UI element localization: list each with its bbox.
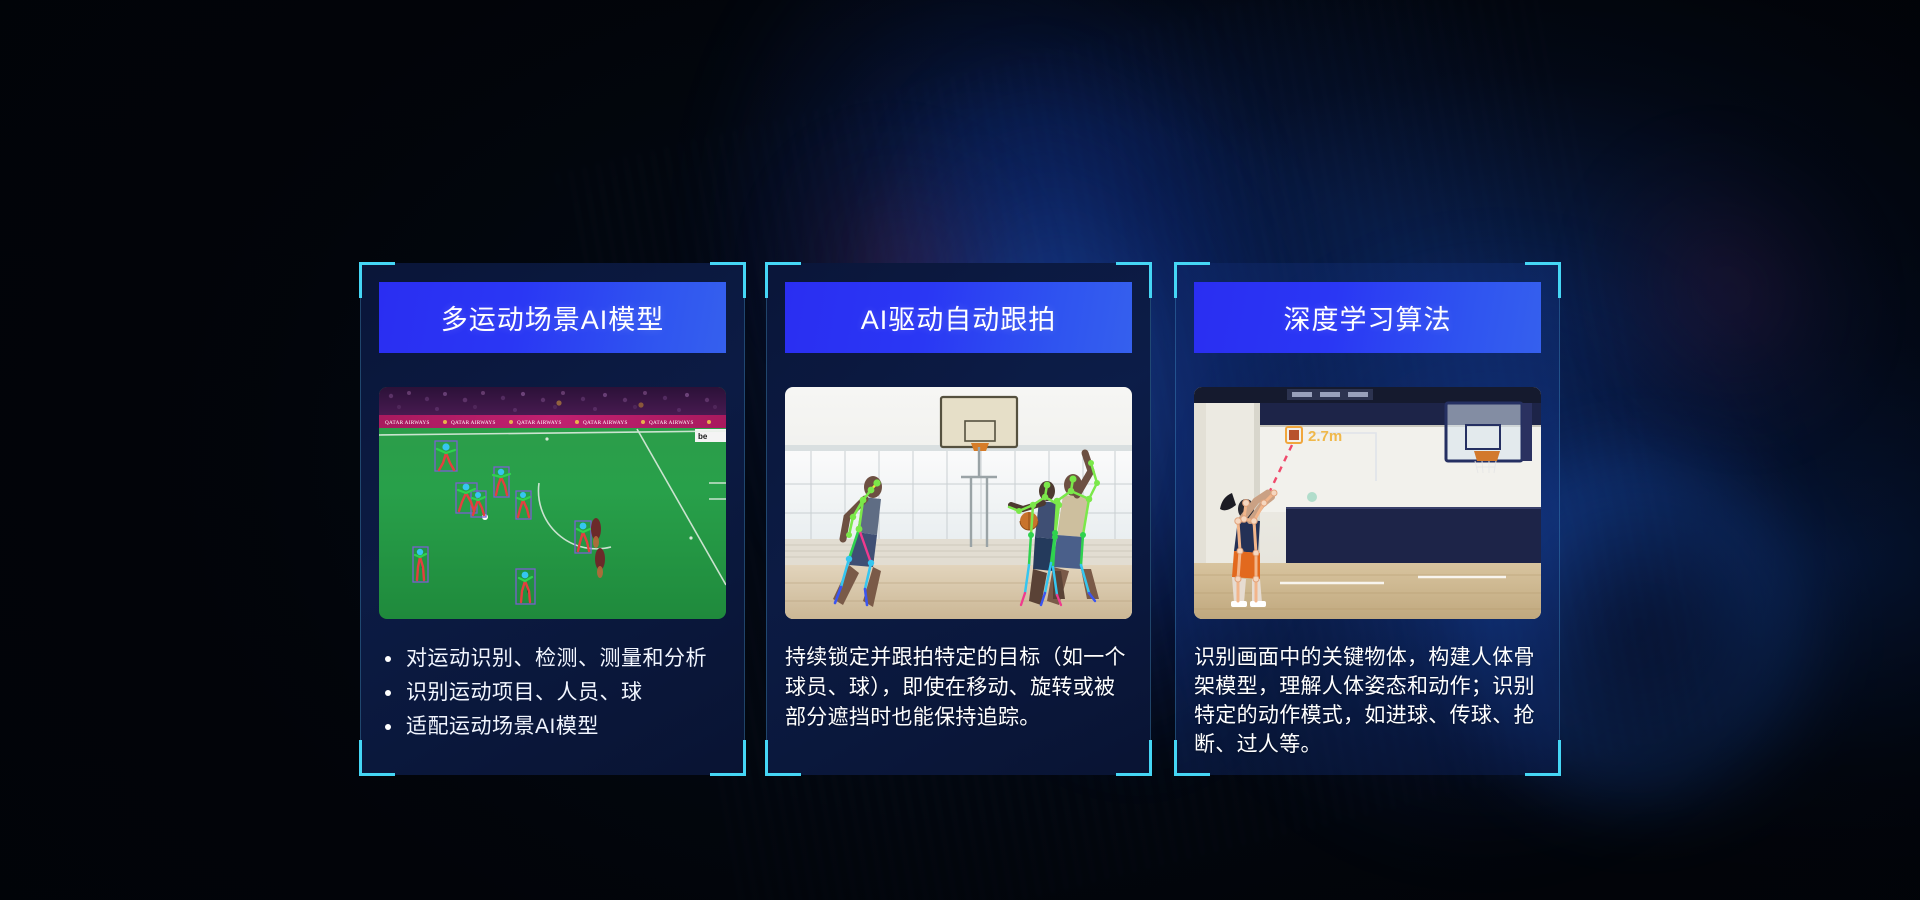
card-header-bar: 多运动场景AI模型	[379, 282, 726, 353]
card-content: AI驱动自动跟拍	[766, 263, 1151, 775]
svg-text:be: be	[698, 432, 708, 441]
card-media-basketball-pose-tracking[interactable]	[785, 387, 1132, 619]
card-content: 深度学习算法	[1175, 263, 1560, 775]
list-item: 对运动识别、检测、测量和分析	[379, 643, 726, 675]
card-title: 深度学习算法	[1284, 298, 1452, 337]
feature-card-ai-auto-tracking[interactable]: AI驱动自动跟拍	[766, 263, 1151, 775]
basketball-height-measurement-illustration: 2.7m	[1194, 387, 1541, 619]
soccer-scene-illustration: QATAR AIRWAYSQATAR AIRWAYS QATAR AIRWAYS…	[379, 387, 726, 619]
height-label: 2.7m	[1308, 428, 1342, 445]
card-media-soccer-pose-detection[interactable]: QATAR AIRWAYSQATAR AIRWAYS QATAR AIRWAYS…	[379, 387, 726, 619]
feature-card-row: 多运动场景AI模型	[0, 0, 1920, 900]
svg-text:QATAR AIRWAYS: QATAR AIRWAYS	[649, 420, 694, 426]
card-header-bar: AI驱动自动跟拍	[785, 282, 1132, 353]
feature-description: 持续锁定并跟拍特定的目标（如一个球员、球），即使在移动、旋转或被部分遮挡时也能保…	[785, 643, 1132, 733]
basketball-hoop	[1446, 403, 1532, 473]
card-content: 多运动场景AI模型	[360, 263, 745, 775]
list-item: 识别运动项目、人员、球	[379, 677, 726, 709]
card-title: 多运动场景AI模型	[441, 298, 665, 337]
svg-text:QATAR AIRWAYS: QATAR AIRWAYS	[517, 420, 562, 426]
card-media-shot-height-measurement[interactable]: 2.7m	[1194, 387, 1541, 619]
svg-text:QATAR AIRWAYS: QATAR AIRWAYS	[583, 420, 628, 426]
card-header-bar: 深度学习算法	[1194, 282, 1541, 353]
feature-card-multi-sport-ai-model[interactable]: 多运动场景AI模型	[360, 263, 745, 775]
feature-bullet-list: 对运动识别、检测、测量和分析 识别运动项目、人员、球 适配运动场景AI模型	[379, 643, 726, 743]
feature-description: 识别画面中的关键物体，构建人体骨架模型，理解人体姿态和动作；识别特定的动作模式，…	[1194, 643, 1541, 759]
card-body: 识别画面中的关键物体，构建人体骨架模型，理解人体姿态和动作；识别特定的动作模式，…	[1194, 643, 1541, 759]
slide-stage: 多运动场景AI模型	[0, 0, 1920, 900]
card-body: 持续锁定并跟拍特定的目标（如一个球员、球），即使在移动、旋转或被部分遮挡时也能保…	[785, 643, 1132, 733]
card-body: 对运动识别、检测、测量和分析 识别运动项目、人员、球 适配运动场景AI模型	[379, 643, 726, 743]
list-item: 适配运动场景AI模型	[379, 711, 726, 743]
svg-text:QATAR AIRWAYS: QATAR AIRWAYS	[385, 420, 430, 426]
gym-basketball-scene-illustration	[785, 387, 1132, 619]
feature-card-deep-learning-algorithm[interactable]: 深度学习算法	[1175, 263, 1560, 775]
card-title: AI驱动自动跟拍	[861, 298, 1057, 337]
svg-text:QATAR AIRWAYS: QATAR AIRWAYS	[451, 420, 496, 426]
